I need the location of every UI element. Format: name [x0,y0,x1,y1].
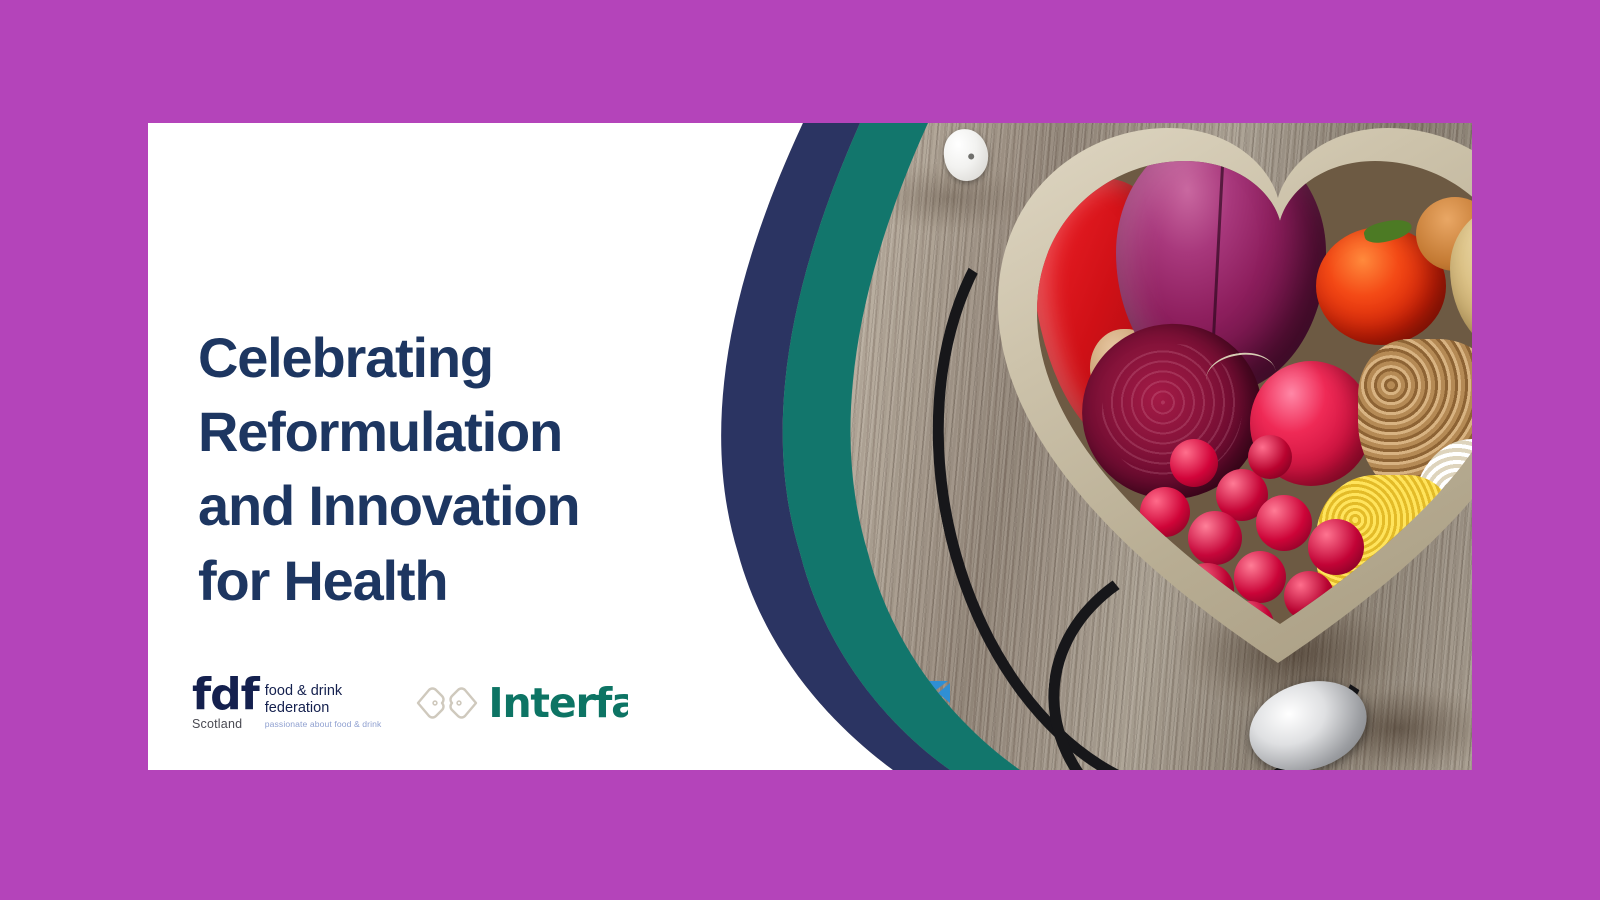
fdf-wordmark: fdf [192,675,259,715]
logo-reformulate[interactable]: Helping food businesses REF OR MUL [721,668,952,739]
cranberry [1170,439,1218,487]
reformulate-word-dark: REF [721,688,785,719]
fdf-tagline: passionate about food & drink [265,719,382,729]
cranberry [1308,519,1364,575]
slide-canvas: Celebrating Reformulation and Innovation… [0,0,1600,900]
logo-interface[interactable]: Interface [415,683,687,724]
reformulate-word-mid: OR [786,688,835,719]
logo-fdf-scotland[interactable]: fdf Scotland food & drink federation pas… [192,675,381,730]
reformulate-strapline-bottom: for a healthier future [721,728,952,739]
slide-card: Celebrating Reformulation and Innovation… [148,123,1472,770]
fdf-region-label: Scotland [192,717,242,731]
arrow-tag-left-icon [415,686,446,720]
interface-wordmark: Interface [488,683,687,724]
page-title: Celebrating Reformulation and Innovation… [198,321,728,619]
cranberry [1256,495,1312,551]
partner-logo-row: fdf Scotland food & drink federation pas… [192,663,953,743]
saltire-fork-knife-icon [911,677,953,721]
cranberry [1188,511,1242,565]
arrow-tag-right-icon [448,686,479,720]
cranberry [1234,551,1286,603]
cranberry [1248,435,1292,479]
fdf-descriptor: food & drink federation [265,683,382,717]
reformulate-word-blue: MUL [835,688,909,719]
